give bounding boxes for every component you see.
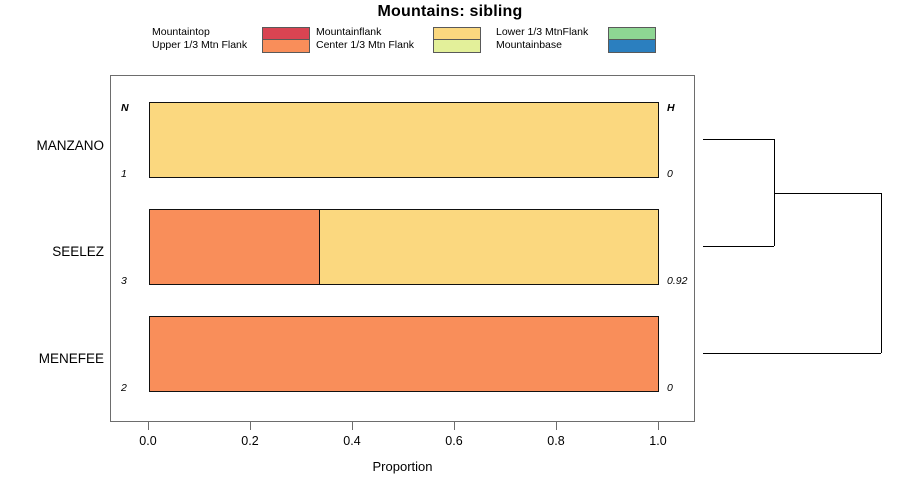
row-label-group: MANZANO SEELEZ MENEFEE xyxy=(0,0,104,500)
dendrogram-branch xyxy=(774,193,881,194)
legend-swatch-group xyxy=(608,27,656,53)
n-value: 3 xyxy=(121,275,127,287)
axis-tick-label: 0.8 xyxy=(547,434,564,448)
axis-tick-label: 0.6 xyxy=(445,434,462,448)
h-value: 0 xyxy=(667,382,673,394)
n-value: 2 xyxy=(121,382,127,394)
row-label-seelez: SEELEZ xyxy=(4,244,104,259)
chart-canvas: Mountains: sibling Mountaintop Upper 1/3… xyxy=(0,0,900,500)
axis-tick xyxy=(250,422,251,430)
row-label-manzano: MANZANO xyxy=(4,138,104,153)
axis-tick-label: 0.0 xyxy=(139,434,156,448)
stacked-bar[interactable] xyxy=(149,209,659,285)
legend-column: Lower 1/3 MtnFlank Mountainbase xyxy=(496,26,662,60)
axis-tick xyxy=(658,422,659,430)
bar-segment[interactable] xyxy=(150,210,319,284)
n-value: 1 xyxy=(121,168,127,180)
dendrogram-branch xyxy=(703,139,774,140)
axis-tick xyxy=(148,422,149,430)
axis-tick xyxy=(352,422,353,430)
legend-swatch-group xyxy=(262,27,310,53)
bar-segment[interactable] xyxy=(150,317,658,391)
legend-swatch xyxy=(263,40,309,52)
legend-swatch xyxy=(609,40,655,52)
legend-column: Mountainflank Center 1/3 Mtn Flank xyxy=(316,26,491,60)
legend-labels: Lower 1/3 MtnFlank Mountainbase xyxy=(496,26,588,52)
dendrogram-branch xyxy=(703,353,881,354)
legend-swatch-group xyxy=(433,27,481,53)
legend-label: Mountainflank xyxy=(316,26,414,39)
h-value: 0.92 xyxy=(667,275,687,287)
legend-label: Mountaintop xyxy=(152,26,247,39)
n-column-header: N xyxy=(121,102,129,114)
legend-label: Upper 1/3 Mtn Flank xyxy=(152,39,247,52)
stacked-bar[interactable] xyxy=(149,316,659,392)
axis-tick-label: 0.2 xyxy=(241,434,258,448)
dendrogram xyxy=(695,75,900,422)
legend-column: Mountaintop Upper 1/3 Mtn Flank xyxy=(152,26,320,60)
legend-swatch xyxy=(434,28,480,40)
axis-tick-label: 1.0 xyxy=(649,434,666,448)
axis-tick xyxy=(556,422,557,430)
stacked-bar[interactable] xyxy=(149,102,659,178)
bar-segment[interactable] xyxy=(319,210,658,284)
legend-swatch xyxy=(434,40,480,52)
plot-area: N H 1 0 3 0.92 2 0 xyxy=(110,75,695,422)
row-label-menefee: MENEFEE xyxy=(4,351,104,366)
page-title: Mountains: sibling xyxy=(0,3,900,21)
h-value: 0 xyxy=(667,168,673,180)
legend: Mountaintop Upper 1/3 Mtn Flank Mountain… xyxy=(152,26,662,60)
x-axis: 0.00.20.40.60.81.0 xyxy=(110,422,695,462)
legend-swatch xyxy=(609,28,655,40)
legend-swatch xyxy=(263,28,309,40)
dendrogram-connector xyxy=(881,193,882,354)
h-column-header: H xyxy=(667,102,675,114)
legend-label: Center 1/3 Mtn Flank xyxy=(316,39,414,52)
legend-labels: Mountaintop Upper 1/3 Mtn Flank xyxy=(152,26,247,52)
legend-label: Lower 1/3 MtnFlank xyxy=(496,26,588,39)
bar-segment[interactable] xyxy=(150,103,658,177)
legend-labels: Mountainflank Center 1/3 Mtn Flank xyxy=(316,26,414,52)
x-axis-title: Proportion xyxy=(110,459,695,474)
legend-label: Mountainbase xyxy=(496,39,588,52)
axis-tick xyxy=(454,422,455,430)
dendrogram-branch xyxy=(703,246,774,247)
axis-tick-label: 0.4 xyxy=(343,434,360,448)
